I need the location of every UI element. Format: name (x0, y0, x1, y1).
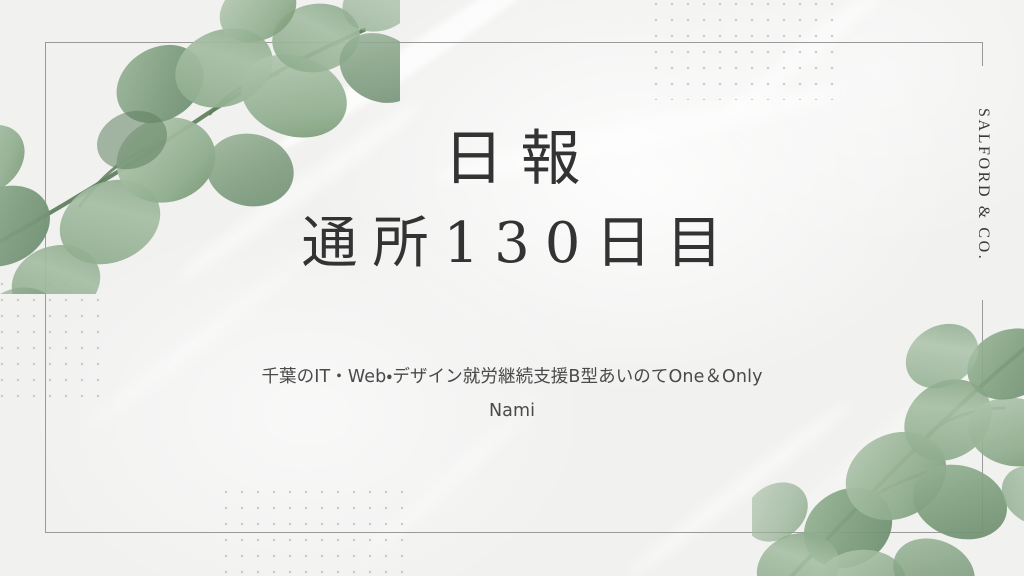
frame-border-bottom (45, 532, 983, 533)
dot-grid-top-right (648, 0, 838, 100)
dot-grid-left (0, 276, 112, 408)
frame-border-left (45, 42, 46, 533)
frame-border-top (45, 42, 983, 43)
background-wash (0, 0, 1024, 576)
slide-canvas: SALFORD & CO. 日報 通所130日目 千葉のIT・Web・デザイン就… (0, 0, 1024, 576)
frame-border-right-lower (982, 300, 983, 532)
brand-vertical-text: SALFORD & CO. (963, 80, 1003, 290)
dot-grid-bottom-left (218, 484, 416, 576)
frame-border-right-upper (982, 42, 983, 66)
